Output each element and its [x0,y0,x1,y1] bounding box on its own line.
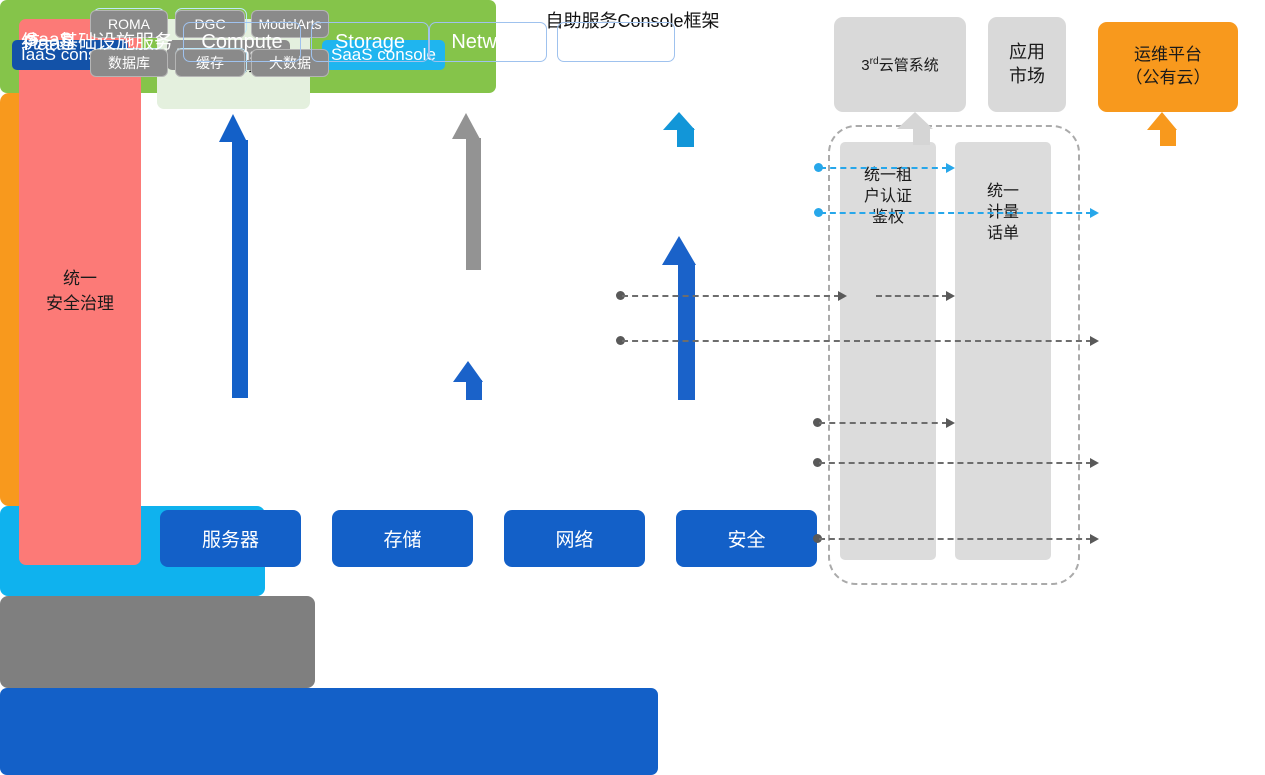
ops-top-line-1: 运维平台 [1126,44,1211,67]
infra-service-storage[interactable]: Storage [311,22,429,62]
infra-service-0-label: Compute [201,31,282,54]
unified-tenant-auth-column: 统一租 户认证 鉴权 [840,142,936,560]
security-governance-panel: 统一 安全治理 [19,19,141,565]
auth-line-2: 户认证 [864,187,912,208]
infra-service-compute[interactable]: Compute [183,22,301,62]
auth-line-3: 鉴权 [864,208,912,229]
hardware-2-label: 网络 [555,525,593,552]
infra-layer-label: 统一基础设施服务 [12,27,182,54]
third-party-cloud-management-box: 3rd云管系统 [834,17,966,112]
hardware-storage-box[interactable]: 存储 [332,510,473,567]
cms-superscript: rd [870,56,879,67]
app-market-line-2: 市场 [1009,65,1045,88]
paas-layer-box: PaaS ROMA DGC ModelArts 数据库 缓存 大数据 [0,596,315,688]
security-line-1: 统一 [46,267,114,292]
security-line-2: 安全治理 [46,292,114,317]
ops-top-line-2: （公有云） [1126,67,1211,90]
hardware-server-box[interactable]: 服务器 [160,510,301,567]
architecture-diagram: 统一 安全治理 API网关 自助服务Console框架 IaaS console… [0,0,1265,605]
metering-line-1: 统一 [987,182,1019,203]
hardware-1-label: 存储 [383,525,421,552]
unified-metering-billing-column: 统一 计量 话单 [955,142,1051,560]
app-market-box: 应用 市场 [988,17,1066,112]
auth-line-1: 统一租 [864,166,912,187]
third-party-cloud-management-label: 3rd云管系统 [861,54,938,75]
infra-service-1-label: Storage [335,31,405,54]
hardware-0-label: 服务器 [202,525,259,552]
hardware-network-box[interactable]: 网络 [504,510,645,567]
cms-suffix: 云管系统 [879,57,939,74]
infra-service-2-label: Network [451,31,524,54]
infra-service-3-label: CCE [595,31,637,54]
cms-prefix: 3 [861,57,869,74]
hardware-security-box[interactable]: 安全 [676,510,817,567]
app-market-line-1: 应用 [1009,41,1045,64]
unified-infrastructure-box: 统一基础设施服务 Compute Storage Network CCE [0,688,658,775]
infra-service-network[interactable]: Network [429,22,547,62]
infra-service-cce[interactable]: CCE [557,22,675,62]
metering-line-3: 话单 [987,224,1019,245]
paas-service-3-label: 数据库 [108,53,150,73]
ops-platform-public-cloud-box: 运维平台 （公有云） [1098,22,1238,112]
hardware-3-label: 安全 [727,525,765,552]
